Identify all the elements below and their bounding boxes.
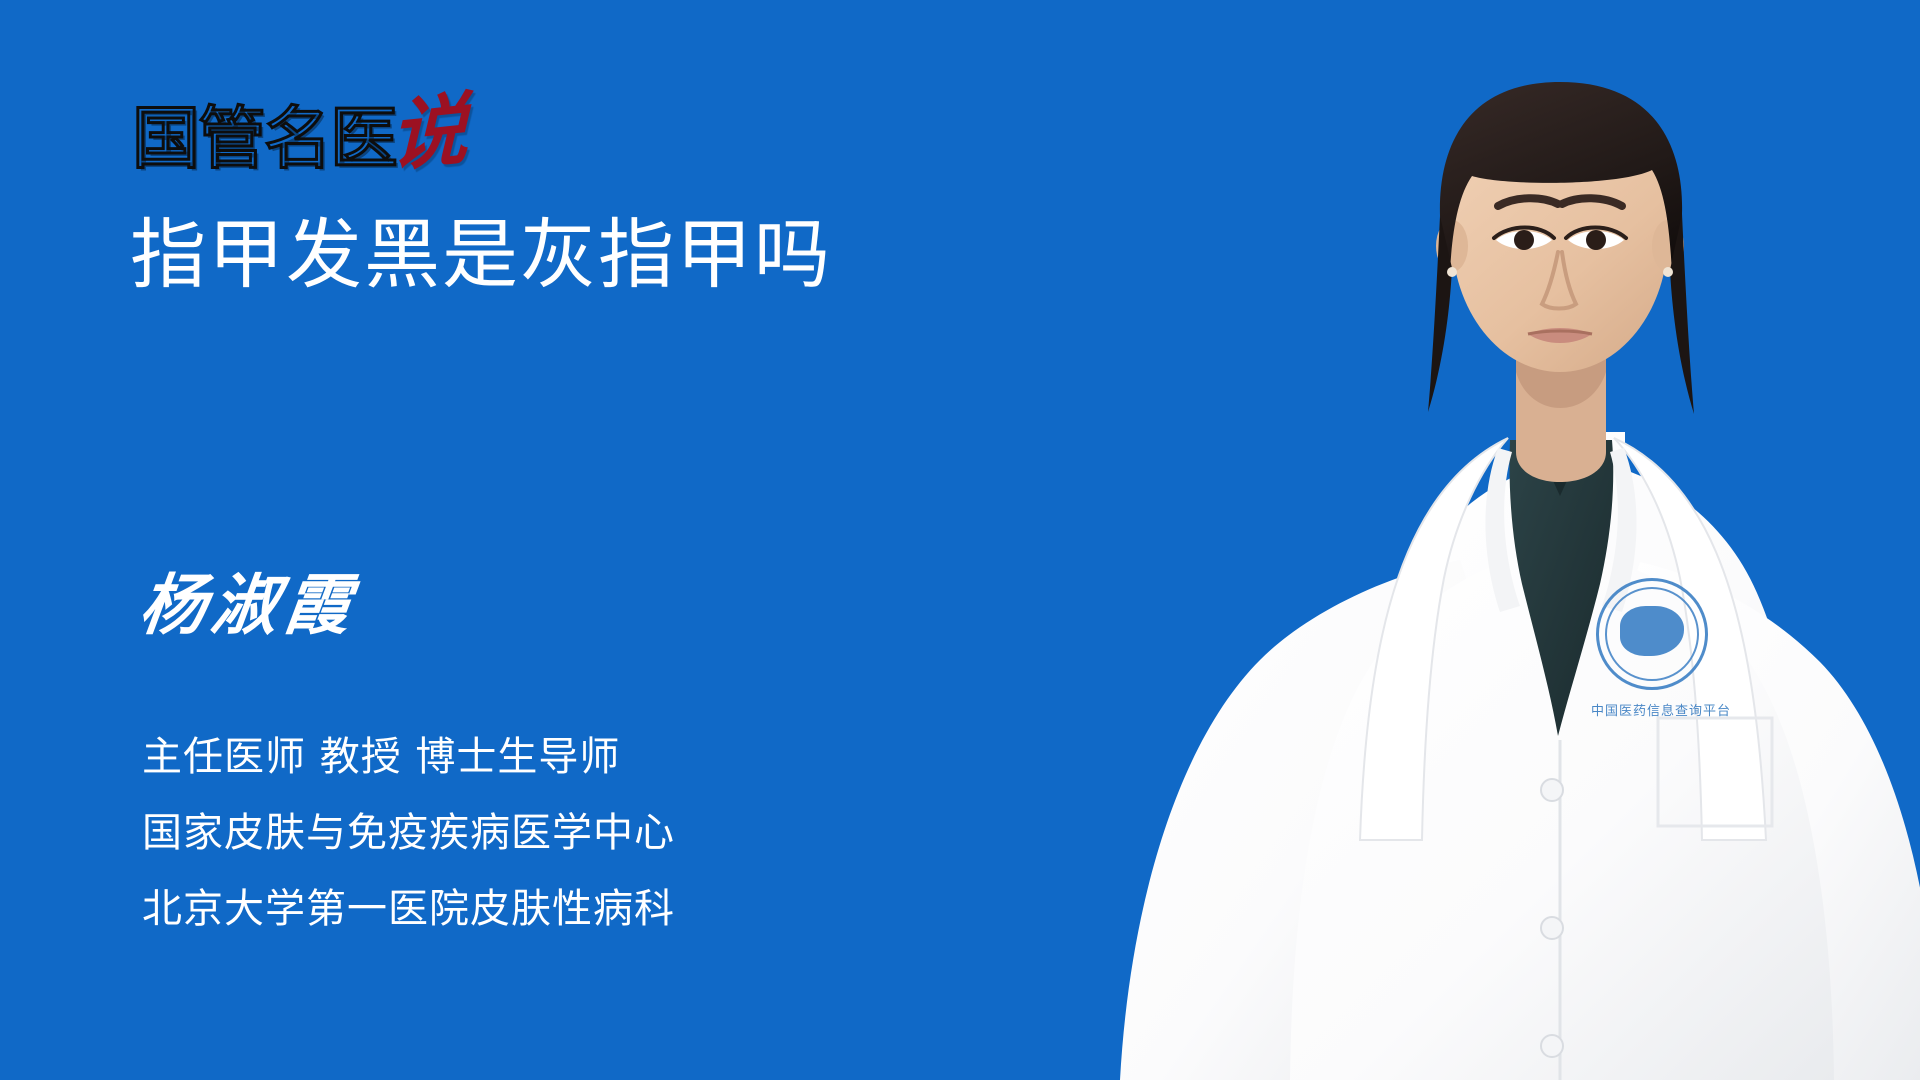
doctor-portrait (1060, 0, 1920, 1080)
chest-emblem-caption: 中国医药信息查询平台 (1576, 700, 1746, 719)
brand-logo-accent: 说 (390, 94, 468, 174)
video-cover-slide: 中国医药信息查询平台 国管名医 说 指甲发黑是灰指甲吗 杨淑霞 主任医师 教授 … (0, 0, 1920, 1080)
earring (1663, 267, 1673, 277)
coat-button (1541, 1035, 1563, 1057)
page-title: 指甲发黑是灰指甲吗 (130, 212, 832, 297)
doctor-name: 杨淑霞 (136, 572, 360, 638)
brand-logo-main: 国管名医 (132, 106, 396, 174)
coat-button (1541, 917, 1563, 939)
coat-button (1541, 779, 1563, 801)
earring (1447, 267, 1457, 277)
credential-line-2: 国家皮肤与免疫疾病医学中心 (142, 811, 675, 855)
credential-line-1: 主任医师 教授 博士生导师 (142, 735, 675, 779)
credential-line-3: 北京大学第一医院皮肤性病科 (142, 887, 675, 931)
doctor-credentials: 主任医师 教授 博士生导师 国家皮肤与免疫疾病医学中心 北京大学第一医院皮肤性病… (142, 735, 675, 931)
brand-logo: 国管名医 说 (132, 88, 468, 174)
